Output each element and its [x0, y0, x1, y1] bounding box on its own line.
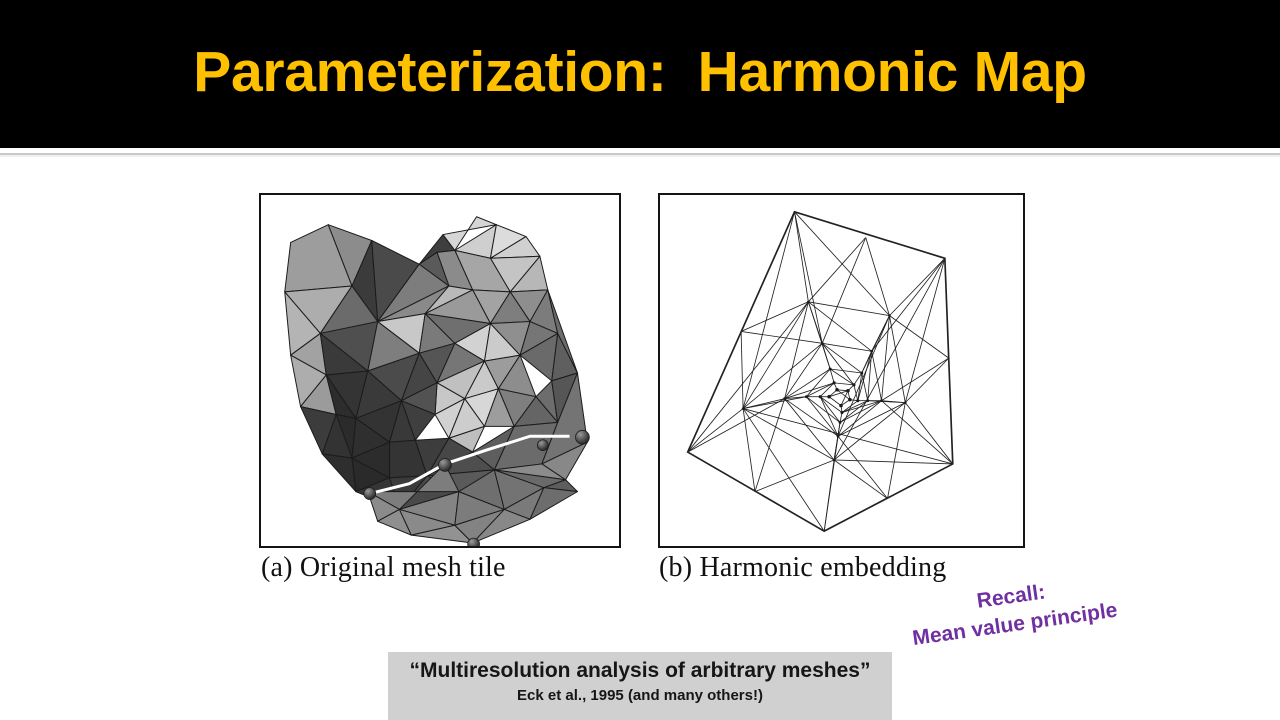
figure-b-caption: (b) Harmonic embedding: [659, 552, 946, 584]
slide-title: Parameterization: Harmonic Map: [0, 0, 1280, 148]
title-banner: Parameterization: Harmonic Map: [0, 0, 1280, 148]
citation-subtitle: Eck et al., 1995 (and many others!): [388, 686, 892, 706]
citation-box: “Multiresolution analysis of arbitrary m…: [388, 652, 892, 720]
citation-title: “Multiresolution analysis of arbitrary m…: [388, 658, 892, 684]
figure-a-caption: (a) Original mesh tile: [261, 552, 506, 584]
harmonic-embedding-graphic: [660, 195, 1023, 546]
original-mesh-tile-graphic: [261, 195, 619, 546]
figure-b-harmonic-embedding: [658, 193, 1025, 548]
figure-a-original-mesh-tile: [259, 193, 621, 548]
banner-divider: [0, 152, 1280, 157]
